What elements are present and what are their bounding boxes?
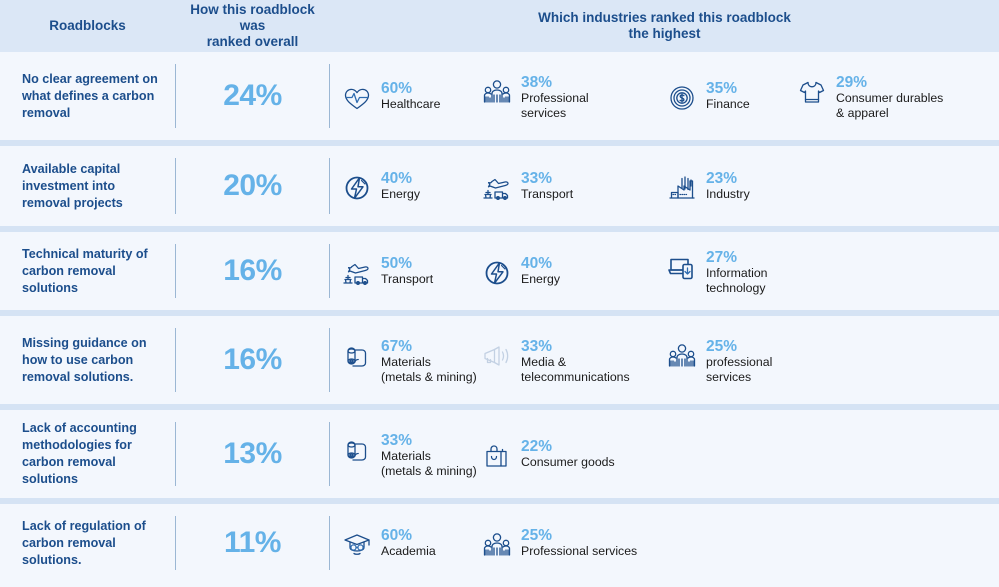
- industry-text: 27%Information technology: [706, 249, 795, 295]
- graduate-icon: [340, 528, 374, 562]
- industry-item: 38%Professional services: [480, 72, 665, 120]
- materials-roll-icon: [340, 339, 374, 373]
- industry-percent: 40%: [521, 255, 560, 272]
- table-row: Available capital investment into remova…: [0, 146, 999, 226]
- industries-cell: 50%Transport40%Energy27%Information tech…: [330, 232, 999, 310]
- industry-item: 33%Materials (metals & mining): [340, 430, 480, 478]
- factory-icon: [665, 171, 699, 205]
- people-group-icon: [480, 75, 514, 109]
- industry-name: Information technology: [706, 266, 795, 295]
- industry-name: Media & telecommunications: [521, 355, 630, 384]
- tshirt-icon: [795, 75, 829, 109]
- industry-item: 67%Materials (metals & mining): [340, 336, 480, 384]
- industry-item: 40%Energy: [340, 168, 480, 205]
- industry-percent: 33%: [521, 170, 573, 187]
- industry-percent: 60%: [381, 80, 440, 97]
- industry-text: 35%Finance: [706, 80, 750, 112]
- industry-item: 60%Healthcare: [340, 78, 480, 115]
- roadblock-label: Lack of accounting methodologies for car…: [22, 420, 161, 488]
- shopping-bag-icon: [480, 439, 514, 473]
- industry-item: 33%Transport: [480, 168, 665, 205]
- industries-cell: 40%Energy33%Transport23%Industry: [330, 146, 999, 226]
- industry-name: Healthcare: [381, 97, 440, 112]
- table-row: No clear agreement on what defines a car…: [0, 52, 999, 140]
- industry-percent: 35%: [706, 80, 750, 97]
- industry-text: 33%Media & telecommunications: [521, 338, 630, 384]
- industry-name: Transport: [521, 187, 573, 202]
- overall-rank-value: 16%: [223, 254, 282, 288]
- industry-percent: 22%: [521, 438, 615, 455]
- industries-cell: 33%Materials (metals & mining)22%Consume…: [330, 410, 999, 498]
- industries-cell: 67%Materials (metals & mining)33%Media &…: [330, 316, 999, 404]
- industry-name: Consumer durables & apparel: [836, 91, 943, 120]
- industry-percent: 29%: [836, 74, 943, 91]
- industry-name: Professional services: [521, 544, 637, 559]
- industry-name: Finance: [706, 97, 750, 112]
- roadblock-label: Missing guidance on how to use carbon re…: [22, 335, 161, 386]
- industry-percent: 60%: [381, 527, 436, 544]
- industry-name: professional services: [706, 355, 795, 384]
- coin-dollar-icon: [665, 81, 699, 115]
- overall-rank-cell: 20%: [175, 146, 330, 226]
- industry-item: 60%Academia: [340, 525, 480, 562]
- industry-item: 22%Consumer goods: [480, 436, 665, 473]
- industries-cell: 60%Academia25%Professional services: [330, 504, 999, 582]
- industry-name: Energy: [521, 272, 560, 287]
- overall-rank-value: 24%: [223, 79, 282, 113]
- industry-text: 33%Transport: [521, 170, 573, 202]
- industry-name: Academia: [381, 544, 436, 559]
- industry-percent: 38%: [521, 74, 589, 91]
- industry-text: 25%Professional services: [521, 527, 637, 559]
- roadblock-label: Available capital investment into remova…: [22, 161, 161, 212]
- megaphone-icon: [480, 339, 514, 373]
- roadblock-label: No clear agreement on what defines a car…: [22, 71, 161, 122]
- industry-item: 25%professional services: [665, 336, 795, 384]
- industry-percent: 33%: [521, 338, 630, 355]
- industry-text: 60%Academia: [381, 527, 436, 559]
- industry-percent: 25%: [706, 338, 795, 355]
- roadblock-cell: Available capital investment into remova…: [0, 146, 175, 226]
- overall-rank-cell: 16%: [175, 316, 330, 404]
- industry-text: 33%Materials (metals & mining): [381, 432, 477, 478]
- industry-percent: 50%: [381, 255, 433, 272]
- header-roadblocks: Roadblocks: [0, 18, 175, 34]
- industry-percent: 33%: [381, 432, 477, 449]
- people-group-icon: [665, 339, 699, 373]
- industry-percent: 40%: [381, 170, 420, 187]
- energy-bolt-icon: [340, 171, 374, 205]
- industry-percent: 67%: [381, 338, 477, 355]
- roadblock-label: Technical maturity of carbon removal sol…: [22, 246, 161, 297]
- overall-rank-cell: 11%: [175, 504, 330, 582]
- industry-text: 29%Consumer durables & apparel: [836, 74, 943, 120]
- industry-item: 29%Consumer durables & apparel: [795, 72, 975, 120]
- overall-rank-cell: 16%: [175, 232, 330, 310]
- industry-name: Consumer goods: [521, 455, 615, 470]
- industries-cell: 60%Healthcare38%Professional services35%…: [330, 52, 999, 140]
- industry-percent: 25%: [521, 527, 637, 544]
- transport-icon: [340, 256, 374, 290]
- industry-percent: 27%: [706, 249, 795, 266]
- industry-name: Professional services: [521, 91, 589, 120]
- laptop-phone-icon: [665, 250, 699, 284]
- industry-text: 40%Energy: [381, 170, 420, 202]
- industry-text: 25%professional services: [706, 338, 795, 384]
- overall-rank-value: 20%: [223, 169, 282, 203]
- overall-rank-value: 13%: [223, 437, 282, 471]
- industry-name: Industry: [706, 187, 750, 202]
- industry-item: 25%Professional services: [480, 525, 665, 562]
- industry-item: 35%Finance: [665, 78, 795, 115]
- roadblock-cell: Lack of accounting methodologies for car…: [0, 410, 175, 498]
- roadblock-label: Lack of regulation of carbon removal sol…: [22, 518, 161, 569]
- industry-name: Materials (metals & mining): [381, 449, 477, 478]
- industry-text: 23%Industry: [706, 170, 750, 202]
- materials-roll-icon: [340, 433, 374, 467]
- overall-rank-cell: 24%: [175, 52, 330, 140]
- industry-item: 23%Industry: [665, 168, 795, 205]
- industry-text: 60%Healthcare: [381, 80, 440, 112]
- industry-percent: 23%: [706, 170, 750, 187]
- overall-rank-value: 16%: [223, 343, 282, 377]
- industry-text: 38%Professional services: [521, 74, 589, 120]
- industry-item: 27%Information technology: [665, 247, 795, 295]
- heart-pulse-icon: [340, 81, 374, 115]
- roadblock-cell: No clear agreement on what defines a car…: [0, 52, 175, 140]
- table-row: Missing guidance on how to use carbon re…: [0, 316, 999, 404]
- industry-text: 67%Materials (metals & mining): [381, 338, 477, 384]
- overall-rank-cell: 13%: [175, 410, 330, 498]
- transport-icon: [480, 171, 514, 205]
- industry-item: 40%Energy: [480, 253, 665, 290]
- industry-text: 22%Consumer goods: [521, 438, 615, 470]
- roadblock-cell: Lack of regulation of carbon removal sol…: [0, 504, 175, 582]
- industry-name: Transport: [381, 272, 433, 287]
- industry-item: 33%Media & telecommunications: [480, 336, 665, 384]
- overall-rank-value: 11%: [224, 526, 281, 560]
- industry-name: Energy: [381, 187, 420, 202]
- roadblock-cell: Technical maturity of carbon removal sol…: [0, 232, 175, 310]
- roadblock-cell: Missing guidance on how to use carbon re…: [0, 316, 175, 404]
- industry-name: Materials (metals & mining): [381, 355, 477, 384]
- table-row: Technical maturity of carbon removal sol…: [0, 232, 999, 310]
- table-header: Roadblocks How this roadblock was ranked…: [0, 0, 999, 52]
- table-row: Lack of regulation of carbon removal sol…: [0, 504, 999, 582]
- industry-item: 50%Transport: [340, 253, 480, 290]
- table-row: Lack of accounting methodologies for car…: [0, 410, 999, 498]
- industry-text: 50%Transport: [381, 255, 433, 287]
- header-ranked-overall: How this roadblock was ranked overall: [175, 2, 330, 50]
- table-body: No clear agreement on what defines a car…: [0, 52, 999, 587]
- industry-text: 40%Energy: [521, 255, 560, 287]
- energy-bolt-icon: [480, 256, 514, 290]
- roadblocks-table: Roadblocks How this roadblock was ranked…: [0, 0, 999, 587]
- people-group-icon: [480, 528, 514, 562]
- header-industries: Which industries ranked this roadblock t…: [330, 10, 999, 42]
